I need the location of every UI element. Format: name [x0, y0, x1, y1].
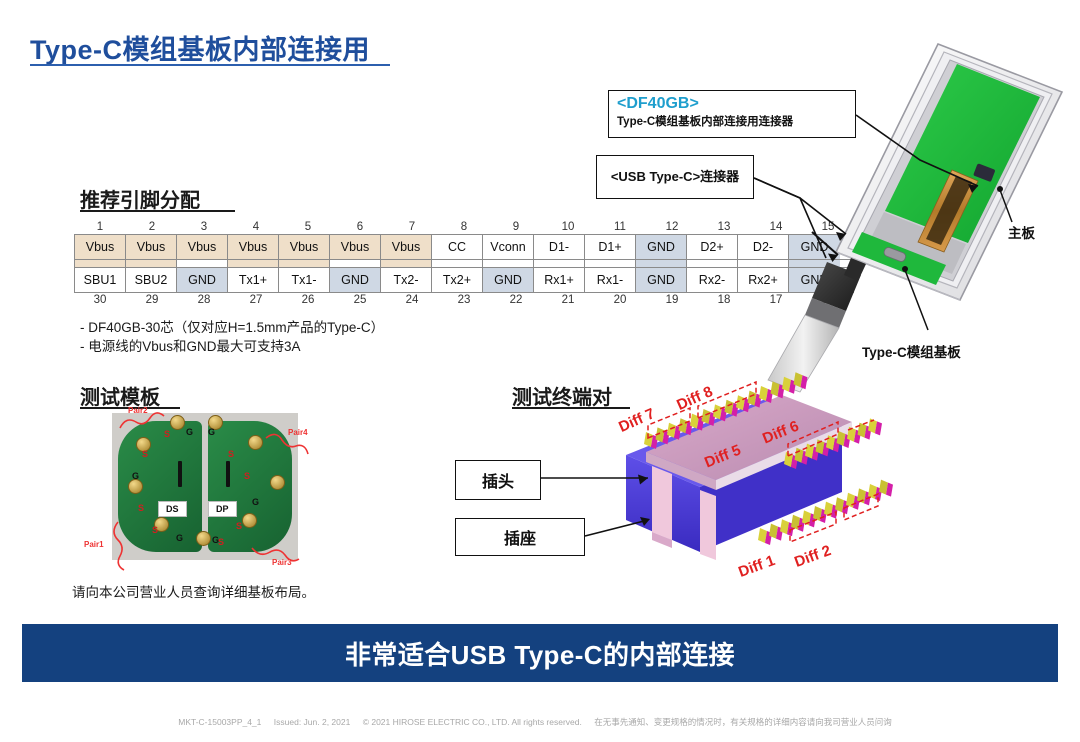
marker-g: G [208, 427, 215, 437]
pin-divider-4 [228, 260, 279, 267]
board-slot-right [226, 461, 230, 487]
connector-contact-pin [805, 444, 814, 459]
pin-cell-2: Vbus [126, 235, 177, 259]
pin-cell-19: GND [636, 268, 687, 292]
heading-test-template: 测试模板 [80, 381, 160, 410]
connector-contact-pin [720, 407, 727, 421]
marker-s: S [228, 449, 234, 459]
connector-contact-pin [697, 417, 704, 431]
pin-number-bottom-27: 27 [230, 293, 282, 307]
pin-number-top-9: 9 [490, 220, 542, 234]
connector-contact-pin [656, 427, 665, 442]
connector-contact-pin [667, 423, 676, 438]
pin-cell-5: Vbus [279, 235, 330, 259]
pin-divider-2 [126, 260, 177, 267]
footer-banner-text: 非常适合USB Type-C的内部连接 [345, 635, 735, 672]
pin-number-bottom-21: 21 [542, 293, 594, 307]
pin-number-bottom-24: 24 [386, 293, 438, 307]
connector-contact-pin [823, 442, 830, 456]
pin-assignment-table: 123456789101112131415 VbusVbusVbusVbusVb… [74, 220, 854, 307]
marker-s: S [236, 521, 242, 531]
connector-contact-pin [782, 377, 791, 392]
connector-contact-pin [847, 427, 856, 442]
pin-cell-21: Rx1+ [534, 268, 585, 292]
pin-cell-7: Vbus [381, 235, 432, 259]
marker-s: S [164, 429, 170, 439]
connector-contact-pin [858, 423, 867, 438]
connector-contact-pin [868, 484, 877, 499]
page-title-underline [30, 64, 390, 66]
pin-divider-14 [738, 260, 789, 267]
pin-number-top-5: 5 [282, 220, 334, 234]
pin-number-top-8: 8 [438, 220, 490, 234]
marker-s: S [244, 471, 250, 481]
sma-connector [242, 513, 257, 528]
connector-contact-pin [791, 515, 800, 530]
connector-contact-pin [865, 426, 872, 440]
connector-contact-pin [824, 502, 833, 517]
callout-df40gb-desc: Type-C模组基板内部连接用连接器 [617, 114, 847, 130]
pin-cell-30: SBU1 [75, 268, 126, 292]
connector-contact-pin [709, 412, 716, 426]
connector-contact-pin [879, 480, 888, 495]
footer-doc-id: MKT-C-15003PP_4_1 [178, 717, 261, 727]
heading-pin-assignment-underline [80, 210, 235, 212]
callout-socket: 插座 [455, 518, 585, 556]
connector-contact-pin [679, 418, 688, 433]
diff-label-7: Diff 7 [616, 405, 657, 436]
pin-cell-4: Vbus [228, 235, 279, 259]
connector-contact-pin [831, 505, 838, 519]
pin-number-bottom-19: 19 [646, 293, 698, 307]
footer-issued: Issued: Jun. 2, 2021 [274, 717, 351, 727]
marker-s: S [138, 503, 144, 513]
connector-contact-pin [725, 400, 734, 415]
diff-label-5: Diff 5 [702, 442, 743, 472]
connector-contact-pin [743, 398, 750, 412]
connector-contact-pin [816, 439, 825, 454]
connector-contact-pin [812, 447, 819, 461]
sma-connector [196, 531, 211, 546]
connector-contact-pin [789, 380, 796, 394]
pin-number-bottom-22: 22 [490, 293, 542, 307]
pin-cell-25: GND [330, 268, 381, 292]
pin-cell-13: D2+ [687, 235, 738, 259]
footer-copyright: © 2021 HIROSE ELECTRIC CO., LTD. All rig… [363, 717, 582, 727]
board-label-dp: DP [208, 501, 237, 517]
connector-contact-pin [784, 452, 793, 467]
connector-contact-pin [802, 451, 809, 465]
connector-contact-pin [846, 493, 855, 508]
connector-contact-pin [780, 519, 789, 534]
pair-label-4: Pair4 [288, 428, 308, 437]
pin-number-top-10: 10 [542, 220, 594, 234]
pin-number-bottom-18: 18 [698, 293, 750, 307]
pin-divider-10 [534, 260, 585, 267]
diff-label-8: Diff 8 [674, 383, 715, 414]
callout-plug: 插头 [455, 460, 541, 500]
pin-number-bottom-20: 20 [594, 293, 646, 307]
connector-contact-pin [791, 455, 798, 469]
callout-usb-typec-label: <USB Type-C>连接器 [611, 169, 739, 185]
pin-divider-13 [687, 260, 738, 267]
sma-connector [248, 435, 263, 450]
connector-contact-pin [801, 375, 808, 389]
connector-contact-pin [690, 414, 699, 429]
footer-disclaimer: 在无事先通知、变更规格的情况时，有关规格的详细内容请向我司营业人员问询 [594, 717, 892, 727]
connector-contact-pin [651, 435, 658, 449]
connector-contact-pin [868, 418, 877, 433]
pin-cell-26: Tx1- [279, 268, 330, 292]
pair-label-1: Pair1 [84, 540, 104, 549]
connector-contact-pin [842, 500, 849, 514]
connector-contact-pin [798, 518, 805, 532]
connector-contact-pin [766, 389, 773, 403]
pin-divider-11 [585, 260, 636, 267]
connector-contact-pin [820, 509, 827, 523]
pin-cell-15: GND [789, 235, 840, 259]
pin-number-top-11: 11 [594, 220, 646, 234]
pin-number-bottom-30: 30 [74, 293, 126, 307]
pin-number-bottom-25: 25 [334, 293, 386, 307]
marker-s: S [152, 525, 158, 535]
connector-contact-pin [833, 438, 840, 452]
connector-contact-pin [771, 381, 780, 396]
callout-plug-label: 插头 [482, 468, 514, 492]
marker-s: S [218, 537, 224, 547]
footer-banner: 非常适合USB Type-C的内部连接 [22, 624, 1058, 682]
pin-cell-23: Tx2+ [432, 268, 483, 292]
connector-contact-pin [713, 404, 722, 419]
connector-contact-pin [854, 430, 861, 444]
pin-cell-14: D2- [738, 235, 789, 259]
heading-test-terminal: 测试终端对 [512, 381, 612, 410]
connector-contact-pin [674, 426, 681, 440]
pin-divider-15 [789, 260, 840, 267]
pin-cell-28: GND [177, 268, 228, 292]
diff-label-2: Diff 2 [792, 542, 833, 571]
connector-contact-pin [755, 394, 762, 408]
pin-row-divider [75, 259, 853, 268]
connector-contact-pin [835, 497, 844, 512]
connector-contact-pin [776, 527, 783, 541]
test-board-photo: S G G S G S S G G S S G S S DS DP [112, 413, 298, 560]
sma-connector [270, 475, 285, 490]
pin-cell-29: SBU2 [126, 268, 177, 292]
test-board-caption: 请向本公司营业人员查询详细基板布局。 [72, 581, 315, 601]
marker-s: S [142, 449, 148, 459]
connector-contact-pin [864, 491, 871, 505]
sma-connector [128, 479, 143, 494]
pin-note-0: - DF40GB-30芯（仅对应H=1.5mm产品的Type-C） [80, 318, 384, 337]
pin-cell-8: CC [432, 235, 483, 259]
pair-label-3: Pair3 [272, 558, 292, 567]
connector-contact-pin [795, 448, 804, 463]
pin-number-bottom-28: 28 [178, 293, 230, 307]
diff-label-6: Diff 6 [760, 418, 801, 448]
pin-divider-9 [483, 260, 534, 267]
connector-contact-pin [853, 496, 860, 510]
sma-connector [170, 415, 185, 430]
callout-usb-typec: <USB Type-C>连接器 [596, 155, 754, 199]
connector-contact-pin [686, 421, 693, 435]
heading-pin-assignment: 推荐引脚分配 [80, 184, 200, 213]
pin-cell-24: Tx2- [381, 268, 432, 292]
pin-row-bottom: SBU1SBU2GNDTx1+Tx1-GNDTx2-Tx2+GNDRx1+Rx1… [75, 268, 853, 292]
label-typec-module-board: Type-C模组基板 [862, 341, 961, 361]
pin-cell-17: Rx2+ [738, 268, 789, 292]
pin-number-top-12: 12 [646, 220, 698, 234]
board-slot-left [178, 461, 182, 487]
label-mainboard: 主板 [1008, 222, 1035, 242]
connector-contact-pin [758, 528, 767, 543]
pin-cell-16: GND [789, 268, 840, 292]
callout-df40gb: <DF40GB> Type-C模组基板内部连接用连接器 [608, 90, 856, 138]
marker-g: G [186, 427, 193, 437]
pin-divider-1 [75, 260, 126, 267]
pin-numbers-top: 123456789101112131415 [74, 220, 854, 234]
pin-cell-3: Vbus [177, 235, 228, 259]
diff-label-1: Diff 1 [736, 552, 777, 581]
pin-number-bottom-17: 17 [750, 293, 802, 307]
pin-divider-3 [177, 260, 228, 267]
pin-number-top-13: 13 [698, 220, 750, 234]
connector-contact-pin [875, 487, 882, 501]
heading-test-terminal-underline [512, 407, 630, 409]
pin-divider-12 [636, 260, 687, 267]
connector-contact-pin [778, 384, 785, 398]
marker-g: G [252, 497, 259, 507]
pin-cell-22: GND [483, 268, 534, 292]
pin-number-top-14: 14 [750, 220, 802, 234]
pin-divider-5 [279, 260, 330, 267]
connector-contact-pin [813, 506, 822, 521]
pin-number-bottom-29: 29 [126, 293, 178, 307]
callout-socket-label: 插座 [504, 525, 536, 549]
connector-contact-pin [759, 386, 768, 401]
pin-number-top-1: 1 [74, 220, 126, 234]
pin-number-bottom-16: 16 [802, 293, 854, 307]
marker-g: G [132, 471, 139, 481]
pin-divider-7 [381, 260, 432, 267]
connector-contact-pin [787, 522, 794, 536]
connector-contact-pin [794, 372, 803, 387]
pin-divider-8 [432, 260, 483, 267]
connector-contact-pin [844, 434, 851, 448]
pin-cell-27: Tx1+ [228, 268, 279, 292]
connector-contact-pin [765, 531, 772, 545]
pin-number-top-2: 2 [126, 220, 178, 234]
pin-note-1: - 电源线的Vbus和GND最大可支持3A [80, 337, 384, 356]
connector-contact-pin [644, 432, 653, 447]
connector-contact-pin [809, 513, 816, 527]
connector-contact-pin [702, 409, 711, 424]
pin-number-top-15: 15 [802, 220, 854, 234]
pin-cell-20: Rx1- [585, 268, 636, 292]
page-title: Type-C模组基板内部连接用 [30, 28, 370, 67]
connector-contact-pin [736, 395, 745, 410]
pin-grid: VbusVbusVbusVbusVbusVbusVbusCCVconnD1-D1… [74, 234, 854, 293]
connector-contact-pin [663, 430, 670, 444]
pin-number-top-4: 4 [230, 220, 282, 234]
connector-contact-pin [802, 510, 811, 525]
pin-cell-18: Rx2- [687, 268, 738, 292]
connector-contact-pin [732, 403, 739, 417]
connector-contact-pin [837, 431, 846, 446]
footer-legal: MKT-C-15003PP_4_1 Issued: Jun. 2, 2021 ©… [0, 716, 1080, 728]
pin-cell-6: Vbus [330, 235, 381, 259]
pin-row-top: VbusVbusVbusVbusVbusVbusVbusCCVconnD1-D1… [75, 235, 853, 259]
pair-label-2: Pair2 [128, 406, 148, 415]
slide-root: Type-C模组基板内部连接用 推荐引脚分配 测试模板 测试终端对 123456… [0, 0, 1080, 742]
pin-number-top-7: 7 [386, 220, 438, 234]
pin-cell-9: Vconn [483, 235, 534, 259]
pin-number-bottom-23: 23 [438, 293, 490, 307]
pin-cell-10: D1- [534, 235, 585, 259]
connector-contact-pin [769, 524, 778, 539]
connector-contact-pin [826, 435, 835, 450]
pin-assignment-notes: - DF40GB-30芯（仅对应H=1.5mm产品的Type-C） - 电源线的… [80, 318, 384, 356]
pin-numbers-bottom: 302928272625242322212019181716 [74, 293, 854, 307]
pin-cell-11: D1+ [585, 235, 636, 259]
connector-contact-pin [886, 483, 893, 497]
pin-number-top-6: 6 [334, 220, 386, 234]
pin-divider-6 [330, 260, 381, 267]
connector-contact-pin [875, 421, 882, 435]
marker-g: G [176, 533, 183, 543]
pin-cell-1: Vbus [75, 235, 126, 259]
connector-contact-pin [857, 488, 866, 503]
connector-contact-pin [748, 391, 757, 406]
pin-number-top-3: 3 [178, 220, 230, 234]
pin-cell-12: GND [636, 235, 687, 259]
callout-df40gb-title: <DF40GB> [617, 94, 847, 114]
pin-number-bottom-26: 26 [282, 293, 334, 307]
board-label-ds: DS [158, 501, 187, 517]
